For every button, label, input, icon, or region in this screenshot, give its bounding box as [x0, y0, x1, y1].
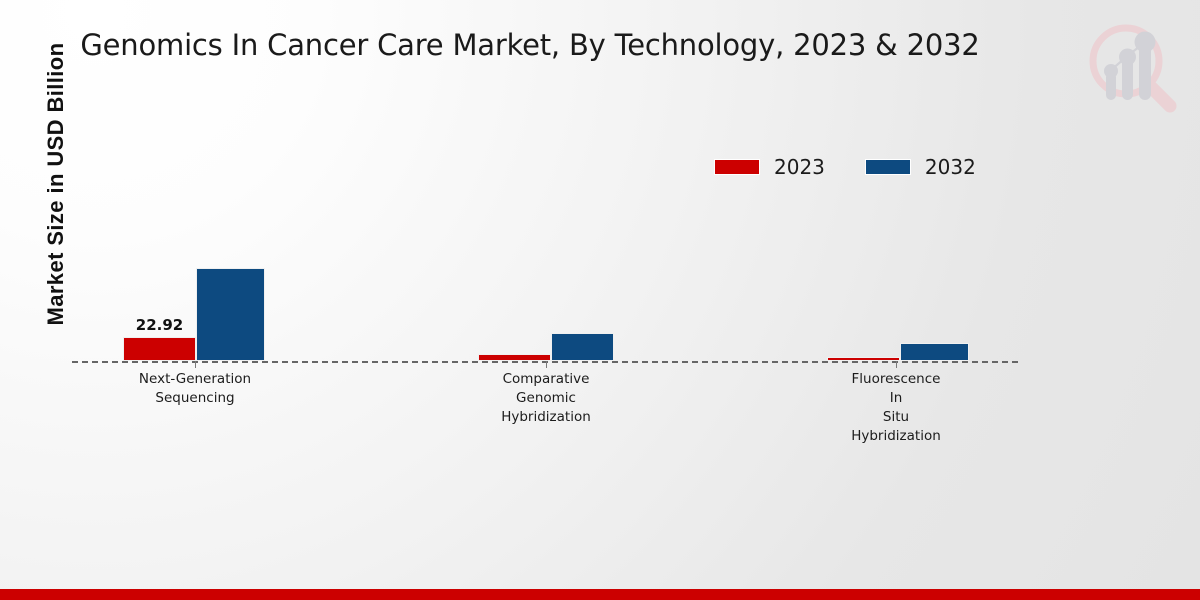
- x-axis-tick-1: [546, 361, 547, 368]
- bar-2032-fluorescence-in-situ-hybridization[interactable]: [900, 343, 969, 361]
- x-axis-label-line: In: [796, 389, 996, 408]
- axis-baseline: [72, 361, 1018, 363]
- x-axis-label-next-generation-sequencing: Next-Generation Sequencing: [95, 370, 295, 408]
- x-axis-label-line: Situ: [796, 408, 996, 427]
- x-axis-label-line: Genomic: [446, 389, 646, 408]
- x-axis-label-line: Fluorescence: [796, 370, 996, 389]
- bar-2023-fluorescence-in-situ-hybridization[interactable]: [827, 357, 900, 361]
- x-axis-label-fluorescence-in-situ-hybridization: Fluorescence In Situ Hybridization: [796, 370, 996, 446]
- footer-accent-bar: [0, 589, 1200, 600]
- x-axis-label-line: Hybridization: [446, 408, 646, 427]
- x-axis-label-comparative-genomic-hybridization: Comparative Genomic Hybridization: [446, 370, 646, 427]
- bar-group-fluorescence-in-situ-hybridization: [0, 241, 1200, 361]
- x-axis-label-line: Next-Generation: [95, 370, 295, 389]
- x-axis-label-line: Comparative: [446, 370, 646, 389]
- chart-container: Genomics In Cancer Care Market, By Techn…: [0, 0, 1200, 600]
- x-axis-label-line: Sequencing: [95, 389, 295, 408]
- x-axis-tick-0: [195, 361, 196, 368]
- plot-area: 22.92 Next-Generation Sequencing Compara…: [0, 0, 1200, 600]
- x-axis-tick-2: [896, 361, 897, 368]
- x-axis-label-line: Hybridization: [796, 427, 996, 446]
